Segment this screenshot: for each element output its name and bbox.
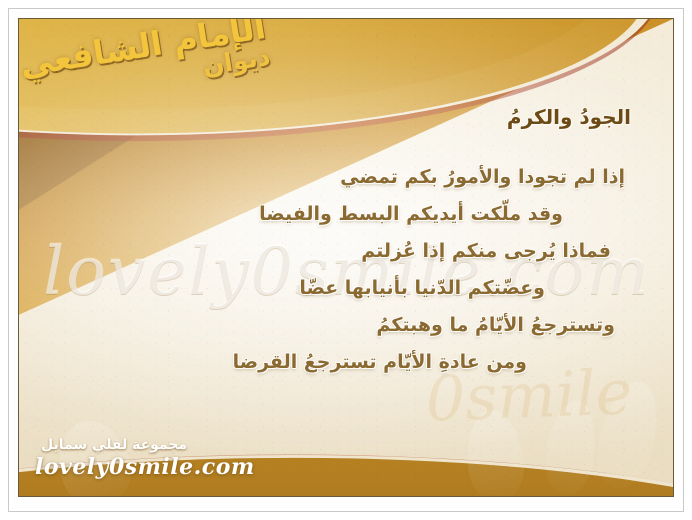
footer-website-url: lovely0smile.com xyxy=(35,454,255,480)
footer-arabic-text: مجموعة لفلي سمايل xyxy=(35,437,255,453)
poster-card: lovely0smile.com 0smile الإمام الشافعي د… xyxy=(18,18,674,497)
verse-line: ومن عادةِ الأيّام تسترجعُ القرضا xyxy=(19,344,673,381)
verse-line: وقد ملّكت أيديكم البسط والفيضا xyxy=(19,196,673,233)
verse-line: إذا لم تجودا والأمورُ بكم تمضي xyxy=(19,159,673,196)
poem-content: الجودُ والكرمُ إذا لم تجودا والأمورُ بكم… xyxy=(19,19,673,496)
verse-line: وتسترجعُ الأيّامُ ما وهبتكمُ xyxy=(19,307,673,344)
poem-verses: إذا لم تجودا والأمورُ بكم تمضي وقد ملّكت… xyxy=(19,159,673,381)
footer-credit: مجموعة لفلي سمايل lovely0smile.com xyxy=(35,437,255,480)
poster-page: lovely0smile.com 0smile الإمام الشافعي د… xyxy=(0,0,692,520)
verse-line: وعضّتكم الدّنيا بأنيابها عضّا xyxy=(19,270,673,307)
page-title: الجودُ والكرمُ xyxy=(507,105,631,129)
verse-line: فماذا يُرجى منكم إذا عُزلتم xyxy=(19,233,673,270)
